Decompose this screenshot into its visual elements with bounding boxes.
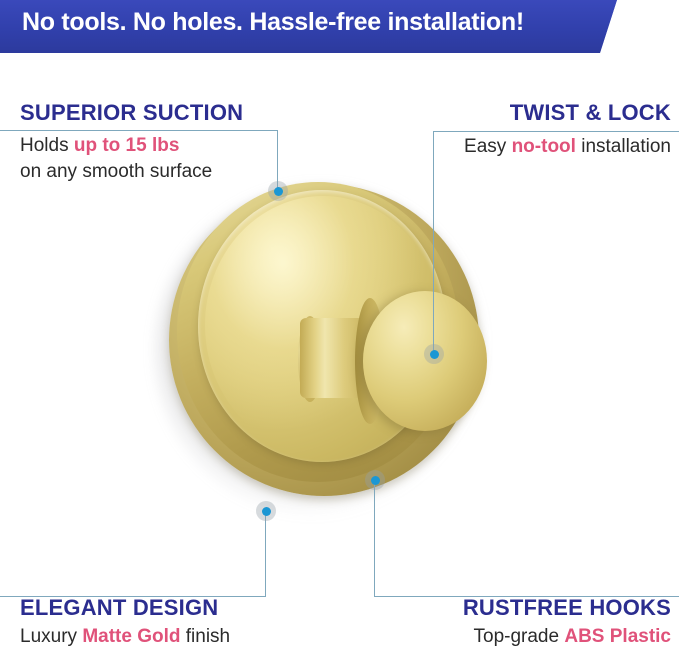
callout-title-rustfree-hooks: RUSTFREE HOOKS (463, 595, 671, 621)
callout-title-twist-lock: TWIST & LOCK (510, 100, 671, 126)
leader-line-twist-lock-horizontal (433, 131, 679, 132)
product-feature-infographic: No tools. No holes. Hassle-free installa… (0, 0, 679, 650)
text-highlight: Matte Gold (82, 626, 180, 647)
product-image (155, 178, 515, 528)
headline-banner: No tools. No holes. Hassle-free installa… (0, 0, 679, 53)
callout-body-rustfree-hooks: Top-grade ABS Plastic (474, 624, 672, 650)
leader-line-superior-suction-horizontal (0, 130, 278, 131)
text-post: finish (180, 626, 230, 647)
hotspot-dot-superior-suction (268, 181, 288, 201)
banner-headline: No tools. No holes. Hassle-free installa… (22, 8, 524, 37)
text-pre: Top-grade (474, 626, 565, 647)
callout-body-elegant-design: Luxury Matte Gold finish (20, 624, 230, 650)
leader-line-elegant-design-vertical (265, 510, 266, 596)
callout-body-superior-suction: Holds up to 15 lbs on any smooth surface (20, 133, 212, 185)
leader-line-rustfree-hooks-vertical (374, 479, 375, 596)
text-post: installation (576, 136, 671, 157)
text-pre: Luxury (20, 626, 82, 647)
hotspot-dot-rustfree-hooks (365, 470, 385, 490)
callout-body-line-1: Holds up to 15 lbs (20, 133, 212, 159)
callout-title-superior-suction: SUPERIOR SUCTION (20, 100, 243, 126)
text-highlight: no-tool (512, 136, 576, 157)
hook-knob (363, 291, 487, 431)
callout-body-line-2: on any smooth surface (20, 159, 212, 185)
callout-title-elegant-design: ELEGANT DESIGN (20, 595, 218, 621)
text-pre: Easy (464, 136, 512, 157)
leader-line-twist-lock-vertical (433, 131, 434, 354)
callout-body-twist-lock: Easy no-tool installation (464, 134, 671, 160)
text-pre: Holds (20, 135, 74, 156)
hotspot-dot-twist-lock (424, 344, 444, 364)
text-highlight: ABS Plastic (564, 626, 671, 647)
text-highlight: up to 15 lbs (74, 135, 180, 156)
hotspot-dot-elegant-design (256, 501, 276, 521)
